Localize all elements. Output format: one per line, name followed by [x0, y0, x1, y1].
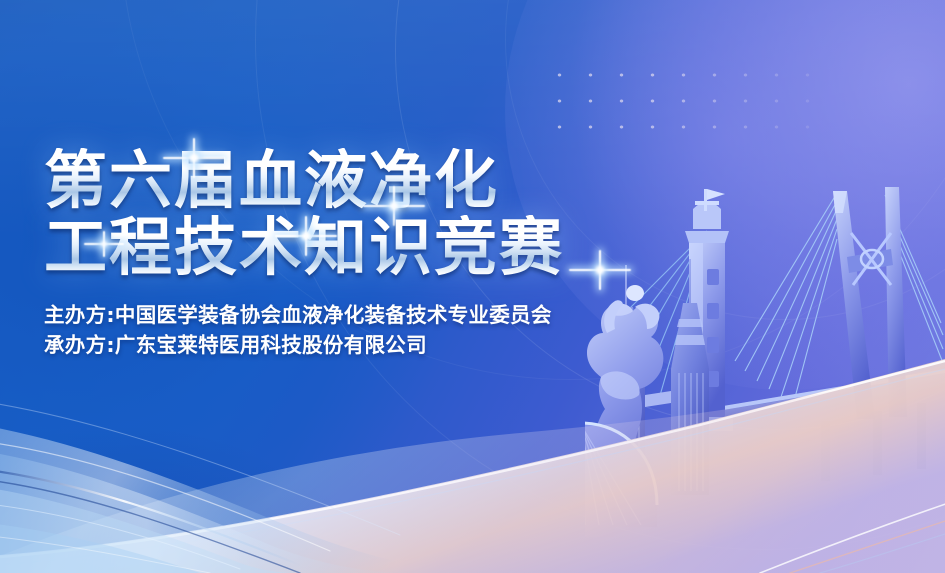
title-line-2: 工程技术知识竞赛	[44, 215, 684, 282]
banner-text-block: 第六届血液净化 工程技术知识竞赛 主办方:中国医学装备协会血液净化装备技术专业委…	[44, 148, 684, 360]
event-banner: 第六届血液净化 工程技术知识竞赛 主办方:中国医学装备协会血液净化装备技术专业委…	[0, 0, 945, 573]
title-line-1: 第六届血液净化	[44, 148, 684, 215]
dot-grid-pattern	[538, 54, 828, 132]
subtitle-block: 主办方:中国医学装备协会血液净化装备技术专业委员会 承办方:广东宝莱特医用科技股…	[44, 300, 684, 360]
host-line: 承办方:广东宝莱特医用科技股份有限公司	[44, 330, 684, 360]
organizer-line: 主办方:中国医学装备协会血液净化装备技术专业委员会	[44, 300, 684, 330]
